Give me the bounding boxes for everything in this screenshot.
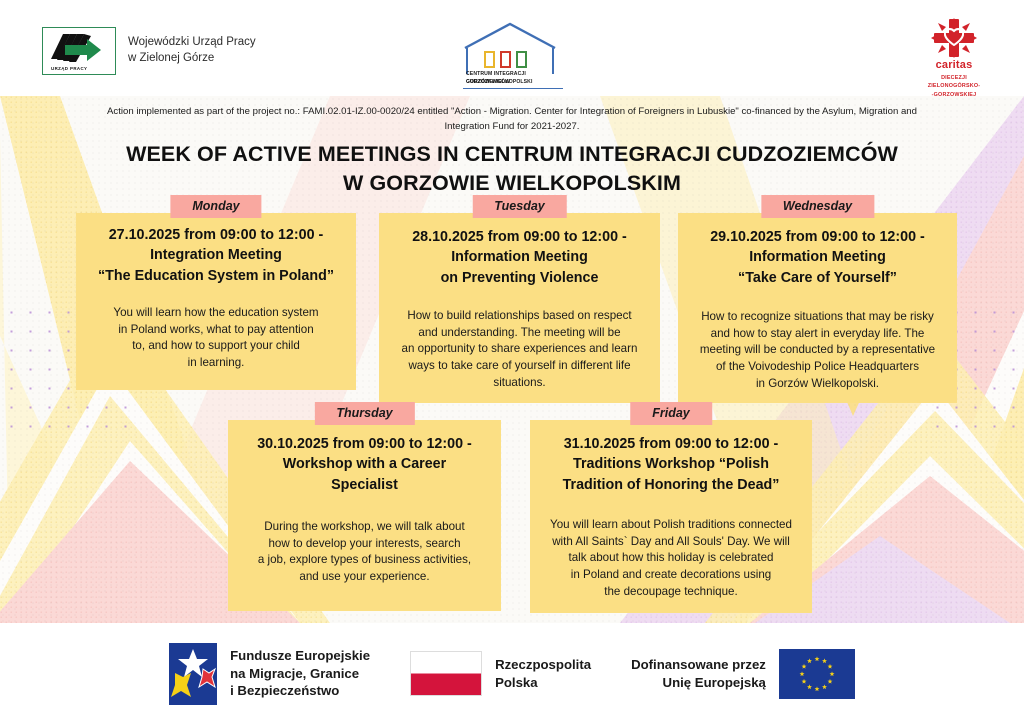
caritas-diocese-text: DIECEZJI ZIELONOGÓRSKO- -GORZOWSKIEJ xyxy=(913,74,995,99)
caritas-wordmark: caritas xyxy=(913,59,995,71)
centrum-integracji-cudzoziemcow-logo: CENTRUM INTEGRACJI CUDZOZIEMCÓW GORZÓW W… xyxy=(455,18,565,90)
caritas-cross-icon xyxy=(931,18,977,58)
day-badge-tuesday: Tuesday xyxy=(472,195,567,218)
wojewodzki-urzad-pracy-logo: URZĄD PRACY Wojewódzki Urząd Pracy w Zie… xyxy=(42,27,256,75)
cic-logo-baseline xyxy=(463,88,563,89)
european-funds-icon xyxy=(169,643,217,705)
event-description: How to recognize situations that may be … xyxy=(688,288,947,393)
header-logo-bar: URZĄD PRACY Wojewódzki Urząd Pracy w Zie… xyxy=(0,0,1024,96)
event-headline: 27.10.2025 from 09:00 to 12:00 - Integra… xyxy=(86,213,346,286)
unia-europejska-logo: Dofinansowane przez Unię Europejską xyxy=(631,649,855,699)
unia-europejska-text: Dofinansowane przez Unię Europejską xyxy=(631,656,766,692)
day-badge-monday: Monday xyxy=(170,195,261,218)
day-badge-wednesday: Wednesday xyxy=(761,195,874,218)
event-headline: 28.10.2025 from 09:00 to 12:00 - Informa… xyxy=(389,213,650,288)
house-windows-icon xyxy=(484,51,527,68)
event-description: You will learn how the education system … xyxy=(86,286,346,372)
wup-logo-text: Wojewódzki Urząd Pracy w Zielonej Górze xyxy=(128,35,256,66)
event-headline: 30.10.2025 from 09:00 to 12:00 - Worksho… xyxy=(238,420,491,495)
cic-logo-caption-line2: GORZÓW WIELKOPOLSKI xyxy=(466,78,562,86)
rzeczpospolita-polska-logo: Rzeczpospolita Polska xyxy=(410,651,591,696)
rzeczpospolita-polska-text: Rzeczpospolita Polska xyxy=(495,656,591,692)
day-badge-friday: Friday xyxy=(630,402,712,425)
eu-flag-icon xyxy=(779,649,855,699)
fundusze-europejskie-logo: Fundusze Europejskie na Migracje, Granic… xyxy=(169,643,370,705)
event-card-friday[interactable]: Friday 31.10.2025 from 09:00 to 12:00 - … xyxy=(530,420,812,613)
caritas-logo: caritas DIECEZJI ZIELONOGÓRSKO- -GORZOWS… xyxy=(913,18,995,92)
project-funding-note: Action implemented as part of the projec… xyxy=(0,104,1024,135)
wup-mark-icon: URZĄD PRACY xyxy=(42,27,116,75)
poster-canvas: URZĄD PRACY Wojewódzki Urząd Pracy w Zie… xyxy=(0,0,1024,724)
event-headline: 31.10.2025 from 09:00 to 12:00 - Traditi… xyxy=(540,420,802,495)
poland-flag-icon xyxy=(410,651,482,696)
wup-mark-caption: URZĄD PRACY xyxy=(51,66,87,71)
page-title: WEEK OF ACTIVE MEETINGS IN CENTRUM INTEG… xyxy=(0,140,1024,197)
event-description: How to build relationships based on resp… xyxy=(389,288,650,392)
event-description: During the workshop, we will talk about … xyxy=(238,495,491,586)
day-badge-thursday: Thursday xyxy=(314,402,414,425)
event-headline: 29.10.2025 from 09:00 to 12:00 - Informa… xyxy=(688,213,947,288)
event-card-monday[interactable]: Monday 27.10.2025 from 09:00 to 12:00 - … xyxy=(76,213,356,390)
event-card-wednesday[interactable]: Wednesday 29.10.2025 from 09:00 to 12:00… xyxy=(678,213,957,403)
event-description: You will learn about Polish traditions c… xyxy=(540,495,802,601)
event-card-thursday[interactable]: Thursday 30.10.2025 from 09:00 to 12:00 … xyxy=(228,420,501,611)
footer-logo-bar: Fundusze Europejskie na Migracje, Granic… xyxy=(0,623,1024,724)
event-card-tuesday[interactable]: Tuesday 28.10.2025 from 09:00 to 12:00 -… xyxy=(379,213,660,403)
fundusze-europejskie-text: Fundusze Europejskie na Migracje, Granic… xyxy=(230,647,370,700)
